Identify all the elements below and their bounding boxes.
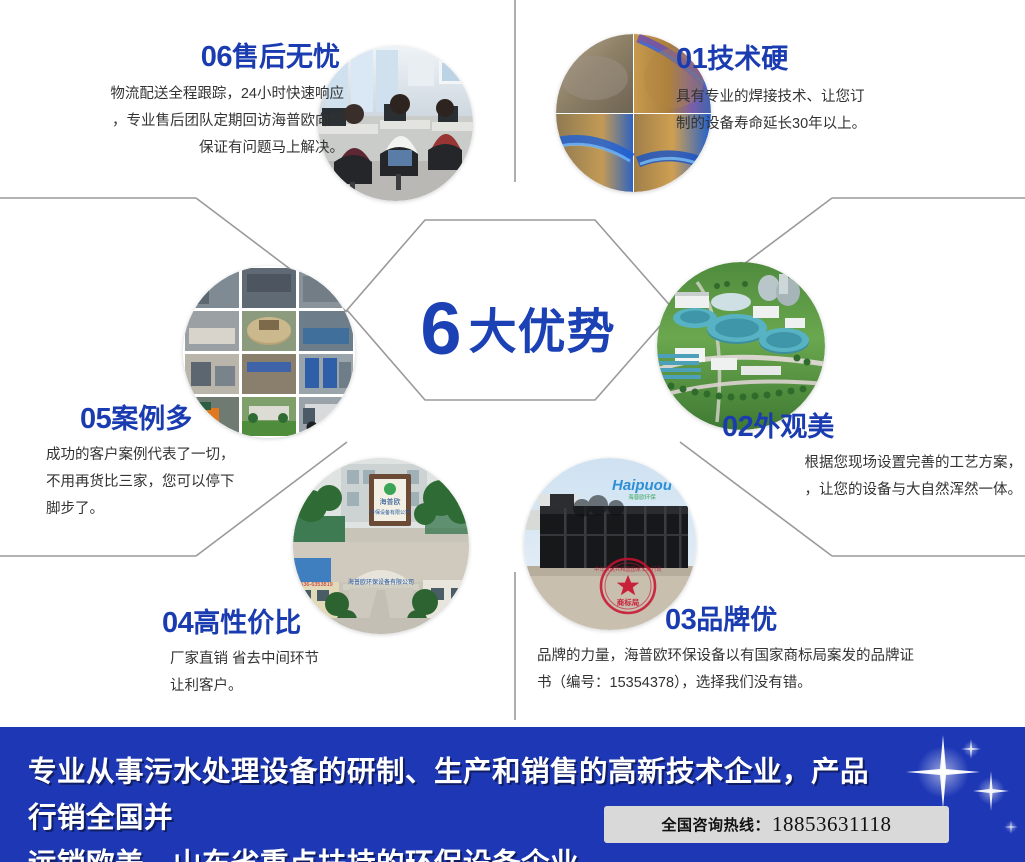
feature-05-number: 05 (80, 403, 111, 435)
feature-02-number: 02 (722, 411, 753, 443)
feature-04-description: 厂家直销 省去中间环节 让利客户。 (52, 646, 382, 700)
svg-text:0536-6353819: 0536-6353819 (297, 582, 332, 588)
svg-text:中华人民共和国国家工商行政: 中华人民共和国国家工商行政 (594, 565, 662, 573)
svg-text:海普欧: 海普欧 (380, 497, 401, 506)
feature-03-title: 03品牌优 (537, 605, 967, 637)
feature-01: 01技术硬 具有专业的焊接技术、让您订 制的设备寿命延长30年以上。 (676, 44, 1006, 138)
feature-06-title: 06售后无忧 (14, 42, 344, 74)
feature-01-title-text: 技术硬 (707, 44, 788, 74)
feature-01-number: 01 (676, 43, 707, 75)
feature-04-title-text: 高性价比 (193, 608, 301, 638)
center-number: 6 (420, 287, 460, 370)
feature-06: 06售后无忧 物流配送全程跟踪，24小时快速响应 ，专业售后团队定期回访海普欧向… (14, 42, 344, 161)
feature-04-title: 04高性价比 (52, 608, 382, 640)
feature-03-description: 品牌的力量，海普欧环保设备以有国家商标局案发的品牌证 书（编号：15354378… (537, 643, 967, 697)
infographic-root: 6大优势 (0, 0, 1025, 862)
svg-text:海普欧环保设备有限公司: 海普欧环保设备有限公司 (348, 578, 414, 586)
feature-02-title: 02外观美 (722, 412, 1022, 444)
svg-text:环保设备有限公司: 环保设备有限公司 (370, 509, 410, 516)
feature-02: 02外观美 根据您现场设置完善的工艺方案， ，让您的设备与大自然浑然一体。 (722, 412, 1022, 504)
feature-03-title-text: 品牌优 (696, 605, 777, 635)
hotline-label: 全国咨询热线： (662, 814, 771, 835)
feature-05: 05案例多 成功的客户案例代表了一切， 不用再货比三家，您可以停下 脚步了。 (18, 404, 338, 522)
feature-04: 04高性价比 厂家直销 省去中间环节 让利客户。 (52, 608, 382, 700)
feature-02-description: 根据您现场设置完善的工艺方案， ，让您的设备与大自然浑然一体。 (722, 450, 1022, 504)
feature-01-description: 具有专业的焊接技术、让您订 制的设备寿命延长30年以上。 (676, 84, 1006, 138)
feature-02-title-text: 外观美 (753, 412, 834, 442)
feature-05-description: 成功的客户案例代表了一切， 不用再货比三家，您可以停下 脚步了。 (18, 442, 338, 522)
hotline-box[interactable]: 全国咨询热线：18853631118 (604, 806, 949, 843)
feature-03-number: 03 (665, 604, 696, 636)
center-title: 6大优势 (388, 292, 648, 366)
svg-text:Haipuou: Haipuou (612, 477, 672, 494)
center-words: 大优势 (469, 306, 616, 359)
feature-06-title-text: 售后无忧 (232, 42, 340, 72)
svg-text:海普欧环保: 海普欧环保 (628, 493, 656, 501)
feature-03: 03品牌优 品牌的力量，海普欧环保设备以有国家商标局案发的品牌证 书（编号：15… (537, 605, 967, 697)
feature-01-title: 01技术硬 (676, 44, 1006, 76)
feature-05-title-text: 案例多 (111, 404, 192, 434)
feature-05-title: 05案例多 (18, 404, 338, 436)
feature-04-number: 04 (162, 607, 193, 639)
feature-06-description: 物流配送全程跟踪，24小时快速响应 ，专业售后团队定期回访海普欧向您 保证有问题… (14, 81, 344, 161)
aerial-treatment-plant-photo (657, 262, 825, 430)
feature-06-number: 06 (201, 41, 232, 73)
hotline-number: 18853631118 (772, 812, 891, 837)
